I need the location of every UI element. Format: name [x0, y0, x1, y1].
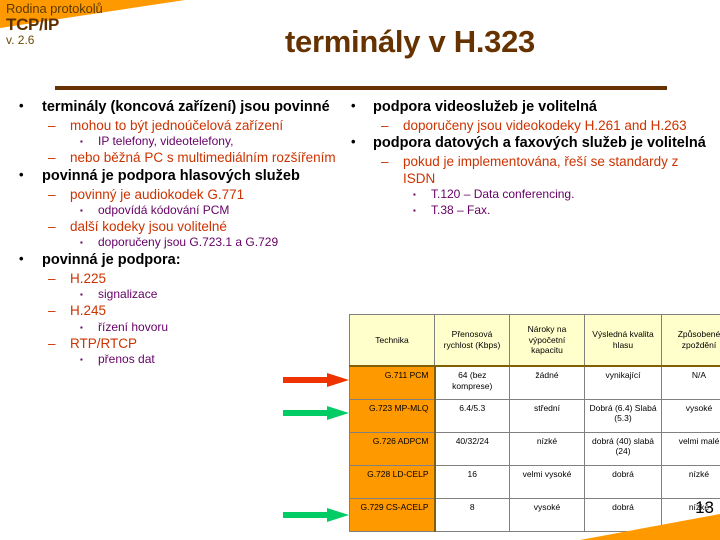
bullet-text: podpora videoslužeb je volitelná	[345, 98, 710, 117]
bullet-text: RTP/RTCP	[12, 335, 342, 352]
column-header-quality: Výsledná kvalita hlasu	[585, 315, 662, 367]
bullet-item: podpora datových a faxových služeb je vo…	[345, 134, 710, 153]
brand-block: Rodina protokolů TCP/IP v. 2.6	[6, 2, 103, 46]
bullet-text: povinná je podpora:	[12, 251, 342, 270]
bullet-text: T.120 – Data conferencing.	[345, 187, 710, 202]
bullet-item: T.38 – Fax.	[345, 203, 710, 218]
bullet-text: IP telefony, videotelefony,	[12, 134, 342, 149]
bullet-text: další kodeky jsou volitelné	[12, 218, 342, 235]
bullet-text: terminály (koncová zařízení) jsou povinn…	[12, 98, 342, 117]
cell-quality: dobrá	[585, 465, 662, 498]
bullet-item: odpovídá kódování PCM	[12, 203, 342, 218]
cell-bitrate: 64 (bez komprese)	[435, 366, 510, 399]
right-arrow-icon	[283, 508, 349, 522]
arrow-to-g729-row	[283, 508, 349, 522]
table-row: G.726 ADPCM 40/32/24 nízké dobrá (40) sl…	[350, 432, 720, 465]
left-bullet-list: terminály (koncová zařízení) jsou povinn…	[12, 98, 342, 368]
bullet-text: H.245	[12, 302, 342, 319]
page-number: 13	[695, 498, 714, 518]
bullet-text: doporučeny jsou G.723.1 a G.729	[12, 235, 342, 250]
cell-quality: vynikající	[585, 366, 662, 399]
bullet-text: pokud je implementována, řeší se standar…	[345, 153, 710, 188]
cell-cpu: žádné	[510, 366, 585, 399]
column-header-delay: Způsobené zpoždění	[662, 315, 720, 367]
cell-bitrate: 8	[435, 498, 510, 531]
left-bullet-column: terminály (koncová zařízení) jsou povinn…	[12, 98, 342, 368]
cell-technika: G.728 LD-CELP	[350, 465, 435, 498]
column-header-technika: Technika	[350, 315, 435, 367]
bullet-item: signalizace	[12, 287, 342, 302]
bullet-item: T.120 – Data conferencing.	[345, 187, 710, 202]
bullet-text: podpora datových a faxových služeb je vo…	[345, 134, 710, 153]
cell-technika: G.729 CS-ACELP	[350, 498, 435, 531]
cell-technika: G.726 ADPCM	[350, 432, 435, 465]
bullet-item: povinná je podpora:	[12, 251, 342, 270]
bullet-item: povinná je podpora hlasových služeb	[12, 167, 342, 186]
bullet-item: RTP/RTCP	[12, 335, 342, 352]
cell-delay: nízké	[662, 465, 720, 498]
bullet-item: IP telefony, videotelefony,	[12, 134, 342, 149]
bullet-item: pokud je implementována, řeší se standar…	[345, 153, 710, 188]
bullet-item: H.225	[12, 270, 342, 287]
table-row: G.728 LD-CELP 16 velmi vysoké dobrá nízk…	[350, 465, 720, 498]
table-row: G.723 MP-MLQ 6.4/5.3 střední Dobrá (6.4)…	[350, 399, 720, 432]
bullet-item: další kodeky jsou volitelné	[12, 218, 342, 235]
cell-bitrate: 6.4/5.3	[435, 399, 510, 432]
arrow-to-g711-row	[283, 373, 349, 387]
right-bullet-list: podpora videoslužeb je volitelná doporuč…	[345, 98, 710, 218]
cell-quality: dobrá	[585, 498, 662, 531]
right-arrow-icon	[283, 373, 349, 387]
bullet-text: doporučeny jsou videokodeky H.261 and H.…	[345, 117, 710, 134]
bullet-item: H.245	[12, 302, 342, 319]
cell-cpu: nízké	[510, 432, 585, 465]
table-body: G.711 PCM 64 (bez komprese) žádné vynika…	[350, 366, 720, 531]
cell-cpu: vysoké	[510, 498, 585, 531]
brand-name: TCP/IP	[6, 16, 103, 33]
right-bullet-column: podpora videoslužeb je volitelná doporuč…	[345, 98, 710, 218]
cell-delay: velmi malé	[662, 432, 720, 465]
bullet-text: přenos dat	[12, 352, 342, 367]
page-title: terminály v H.323	[180, 24, 640, 60]
bullet-text: signalizace	[12, 287, 342, 302]
cell-cpu: velmi vysoké	[510, 465, 585, 498]
cell-bitrate: 40/32/24	[435, 432, 510, 465]
bullet-item: řízení hovoru	[12, 320, 342, 335]
brand-series-title: Rodina protokolů	[6, 2, 103, 15]
bullet-item: mohou to být jednoúčelová zařízení	[12, 117, 342, 134]
cell-bitrate: 16	[435, 465, 510, 498]
brand-version: v. 2.6	[6, 34, 103, 46]
bullet-item: podpora videoslužeb je volitelná	[345, 98, 710, 117]
column-header-bitrate: Přenosová rychlost (Kbps)	[435, 315, 510, 367]
table-header-row: Technika Přenosová rychlost (Kbps) Nárok…	[350, 315, 720, 367]
title-divider	[55, 86, 667, 90]
bullet-text: řízení hovoru	[12, 320, 342, 335]
table-row: G.711 PCM 64 (bez komprese) žádné vynika…	[350, 366, 720, 399]
bullet-text: povinný je audiokodek G.771	[12, 186, 342, 203]
bullet-text: mohou to být jednoúčelová zařízení	[12, 117, 342, 134]
bullet-text: odpovídá kódování PCM	[12, 203, 342, 218]
codec-comparison-table: Technika Přenosová rychlost (Kbps) Nárok…	[349, 314, 720, 532]
cell-delay: N/A	[662, 366, 720, 399]
bullet-text: T.38 – Fax.	[345, 203, 710, 218]
table-header: Technika Přenosová rychlost (Kbps) Nárok…	[350, 315, 720, 367]
cell-quality: Dobrá (6.4) Slabá (5.3)	[585, 399, 662, 432]
bullet-item: doporučeny jsou G.723.1 a G.729	[12, 235, 342, 250]
cell-quality: dobrá (40) slabá (24)	[585, 432, 662, 465]
cell-technika: G.723 MP-MLQ	[350, 399, 435, 432]
right-arrow-icon	[283, 406, 349, 420]
cell-cpu: střední	[510, 399, 585, 432]
bullet-text: H.225	[12, 270, 342, 287]
bullet-item: přenos dat	[12, 352, 342, 367]
cell-delay: vysoké	[662, 399, 720, 432]
arrow-to-g723-row	[283, 406, 349, 420]
bullet-item: terminály (koncová zařízení) jsou povinn…	[12, 98, 342, 117]
cell-technika: G.711 PCM	[350, 366, 435, 399]
bullet-item: nebo běžná PC s multimediálním rozšíření…	[12, 149, 342, 166]
bullet-item: doporučeny jsou videokodeky H.261 and H.…	[345, 117, 710, 134]
bullet-item: povinný je audiokodek G.771	[12, 186, 342, 203]
bullet-text: nebo běžná PC s multimediálním rozšíření…	[12, 149, 342, 166]
column-header-cpu: Nároky na výpočetní kapacitu	[510, 315, 585, 367]
slide-canvas: Rodina protokolů TCP/IP v. 2.6 terminály…	[0, 0, 720, 540]
bullet-text: povinná je podpora hlasových služeb	[12, 167, 342, 186]
